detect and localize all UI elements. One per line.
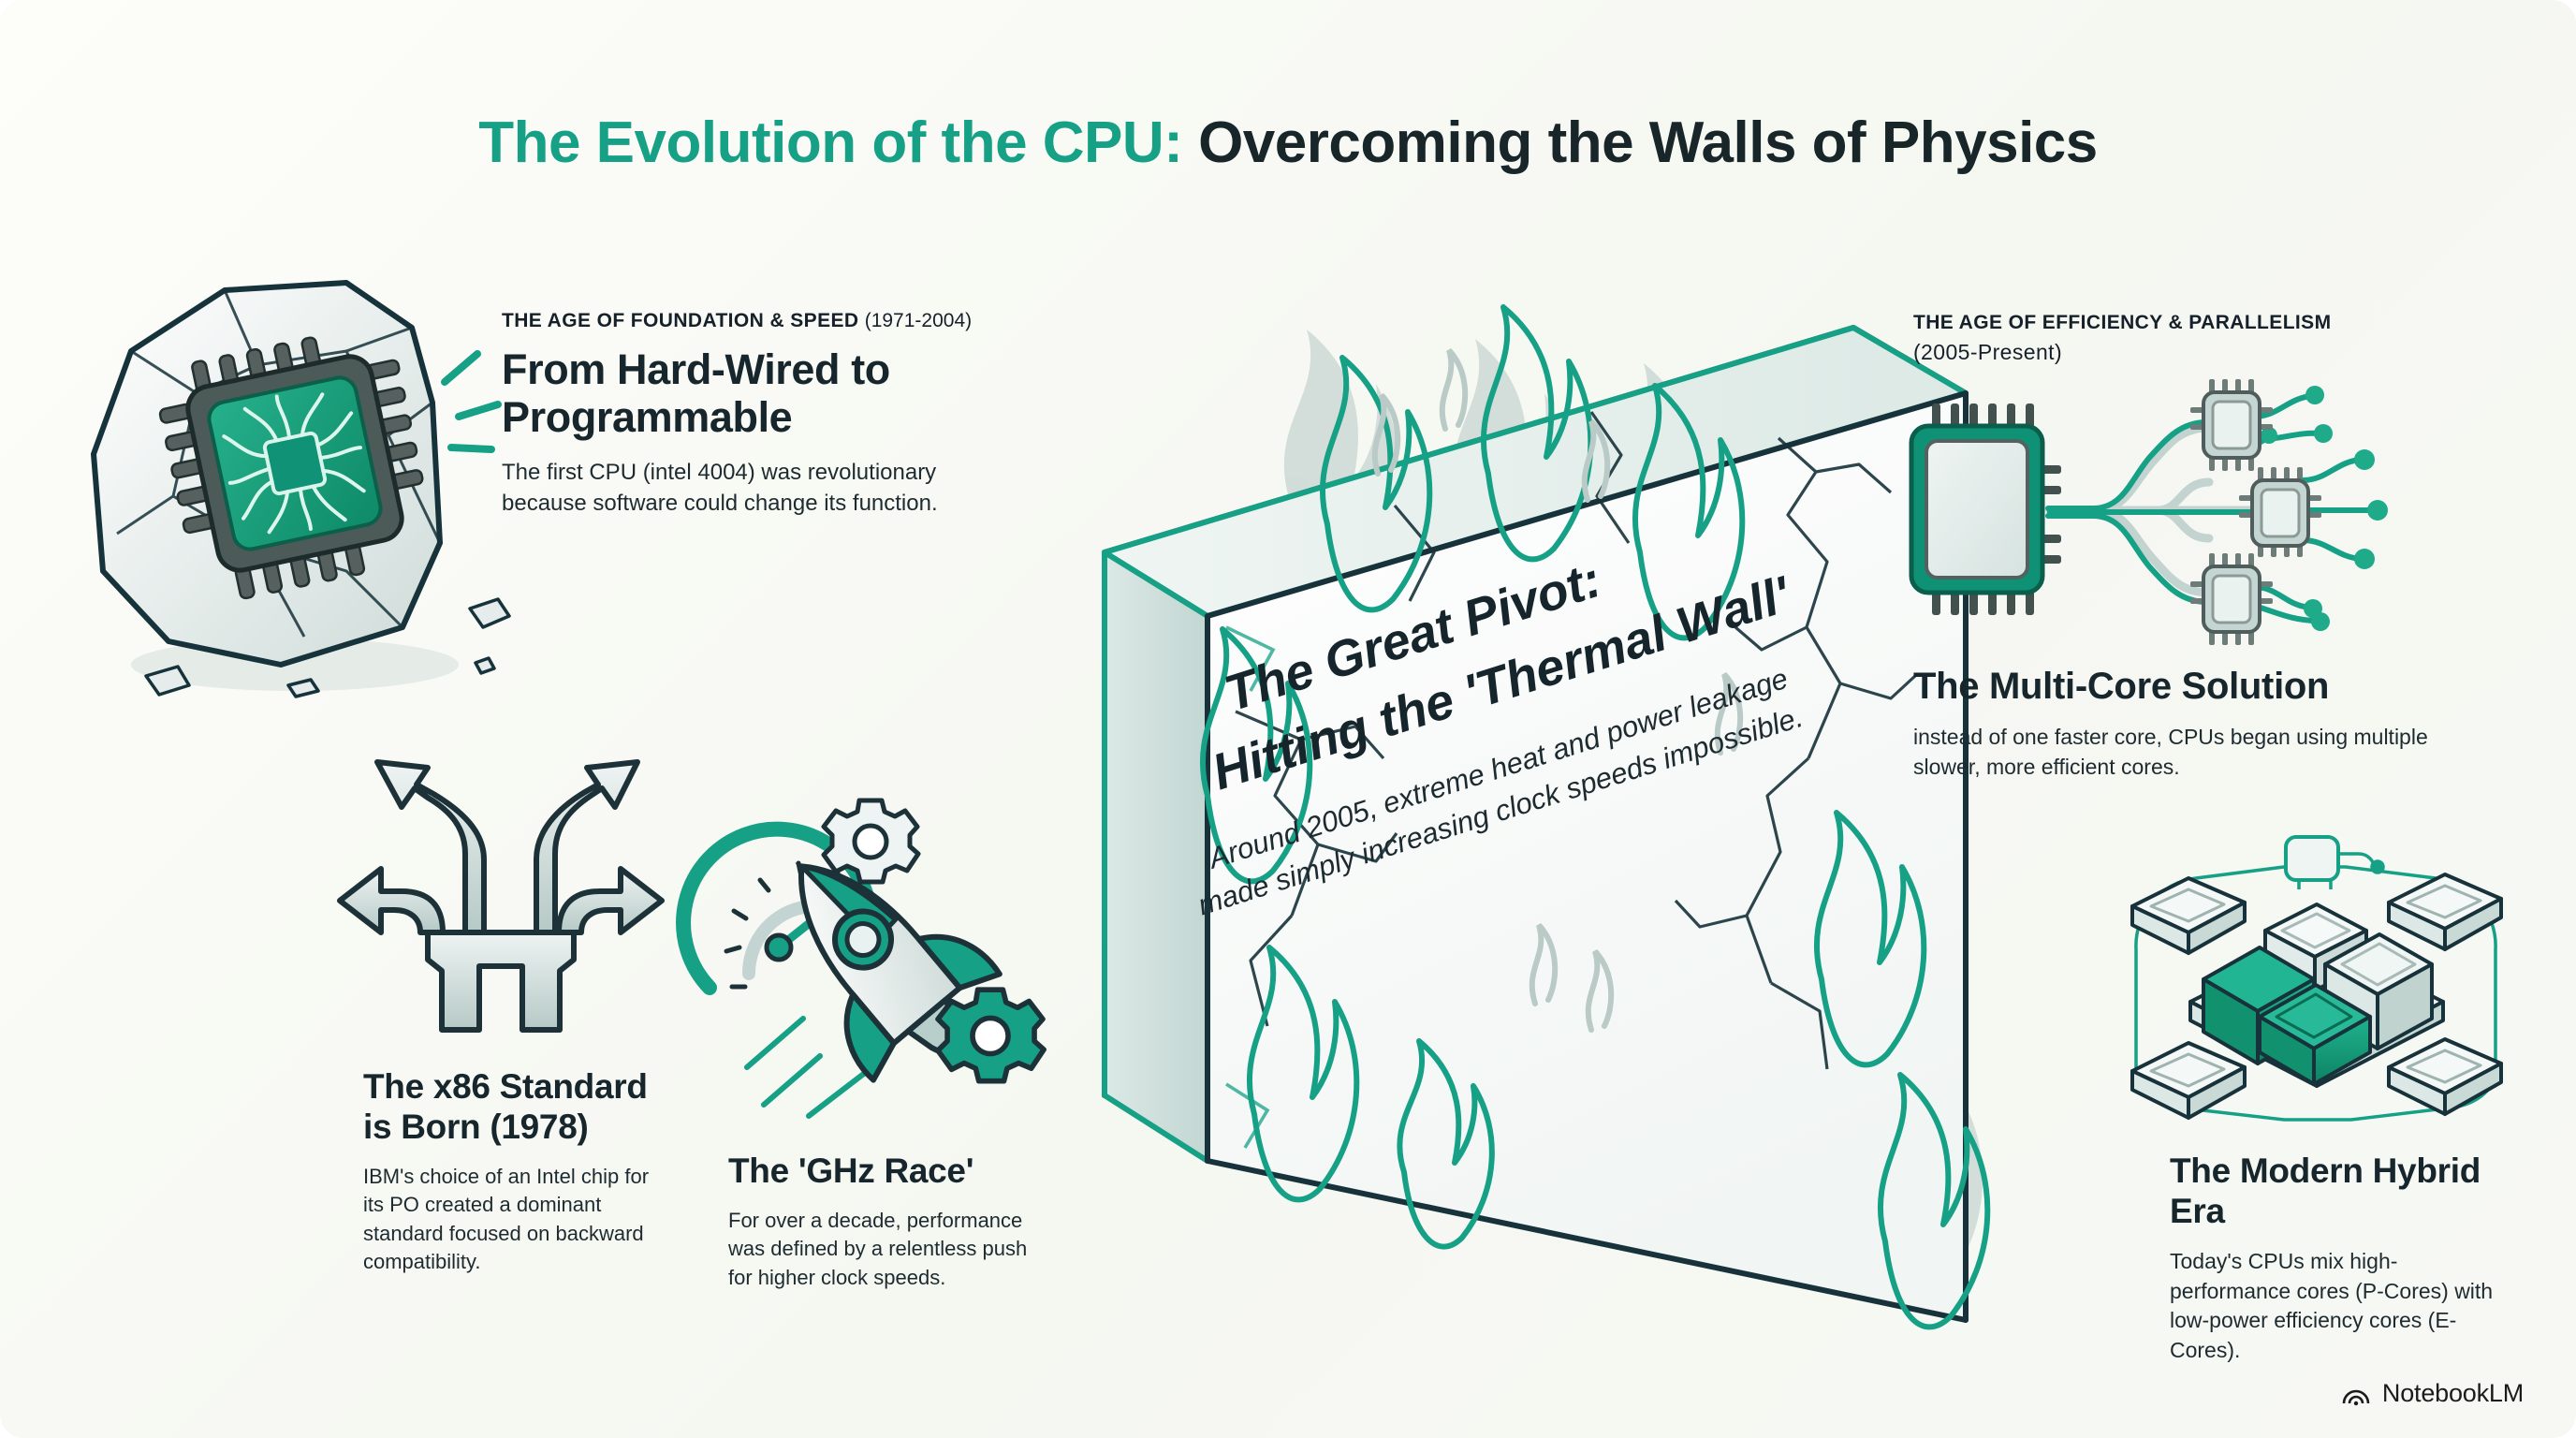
notebooklm-attribution: NotebookLM [2341,1379,2524,1408]
corner-chip [2132,1043,2245,1118]
hybrid-body: Today's CPUs mix high-performance cores … [2170,1247,2516,1366]
notebooklm-arc-logo-icon [2341,1382,2371,1406]
thermal-wall-illustration: The Great Pivot: Hitting the 'Thermal Wa… [1067,271,2003,1376]
title-dark-part: Overcoming the Walls of Physics [1182,110,2097,175]
ghz-heading: The 'GHz Race' [728,1152,1037,1192]
foundation-years: (1971-2004) [865,310,972,331]
rock-with-cpu-chip-illustration [66,262,534,712]
section-x86: The x86 Standard is Born (1978) IBM's ch… [363,1067,672,1276]
corner-chip [2132,878,2245,953]
primary-chip-icon [1911,404,2061,615]
x86-body: IBM's choice of an Intel chip for its PO… [363,1163,672,1276]
secondary-chip-icon [2190,379,2273,471]
page-title: The Evolution of the CPU: Overcoming the… [0,112,2576,173]
infographic-poster: The Evolution of the CPU: Overcoming the… [0,0,2576,1438]
foundation-body: The first CPU (intel 4004) was revolutio… [502,457,970,519]
corner-chip [2389,1039,2501,1114]
foundation-heading: From Hard-Wired to Programmable [502,346,1101,442]
ghz-body: For over a decade, performance was defin… [728,1207,1037,1292]
gear-icon [824,800,918,882]
x86-heading: The x86 Standard is Born (1978) [363,1067,672,1148]
hybrid-cores-illustration [2106,833,2527,1142]
multicore-body: instead of one faster core, CPUs began u… [1913,723,2437,782]
foundation-eyebrow: THE AGE OF FOUNDATION & SPEED (1971-2004… [502,309,1101,333]
section-foundation: THE AGE OF FOUNDATION & SPEED (1971-2004… [502,309,1101,519]
multicore-chip-illustration [1900,370,2481,651]
section-ghz-race: The 'GHz Race' For over a decade, perfor… [728,1152,1037,1292]
secondary-chip-icon [2190,553,2273,645]
efficiency-years: (2005-Present) [1913,339,2475,366]
multicore-heading: The Multi-Core Solution [1913,665,2437,708]
gear-icon [938,990,1044,1080]
notebooklm-brand-label: NotebookLM [2382,1379,2524,1408]
title-accent-part: The Evolution of the CPU: [478,110,1182,175]
efficiency-eyebrow: THE AGE OF EFFICIENCY & PARALLELISM [1913,311,2475,335]
hybrid-heading: The Modern Hybrid Era [2170,1152,2516,1232]
branching-arrows-illustration [323,749,679,1086]
corner-chip [2389,874,2501,949]
section-hybrid-era: The Modern Hybrid Era Today's CPUs mix h… [2170,1152,2516,1366]
foundation-eyebrow-label: THE AGE OF FOUNDATION & SPEED [502,310,858,331]
section-multicore: The Multi-Core Solution instead of one f… [1913,665,2437,783]
rocket-speedometer-gears-illustration [693,786,1076,1133]
section-efficiency-header: THE AGE OF EFFICIENCY & PARALLELISM (200… [1913,311,2475,366]
